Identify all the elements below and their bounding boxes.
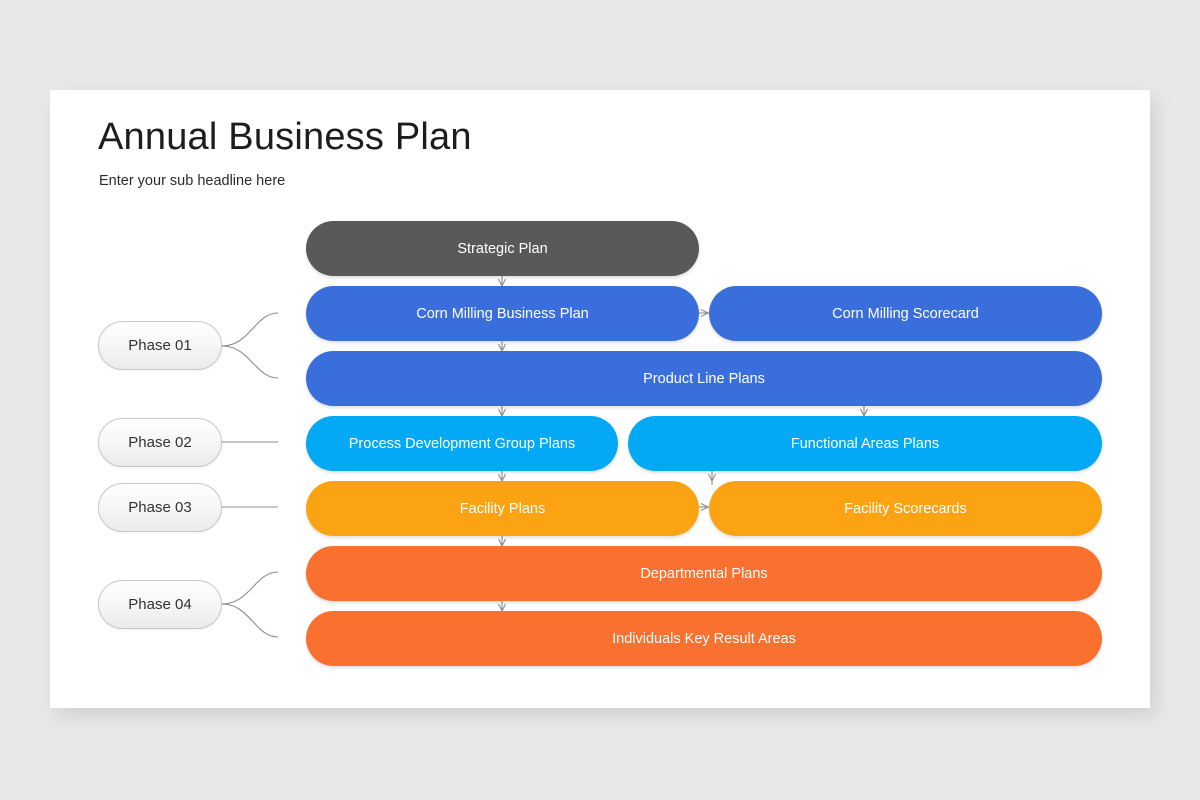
phase-label: Phase 02 — [128, 434, 191, 451]
arrow-head-process-to-facility — [499, 474, 506, 481]
node-facility-scorecards[interactable]: Facility Scorecards — [709, 481, 1102, 536]
node-label: Facility Scorecards — [844, 501, 966, 517]
node-label: Corn Milling Business Plan — [416, 306, 588, 322]
node-individuals-key-result-areas[interactable]: Individuals Key Result Areas — [306, 611, 1102, 666]
phase-pill-01[interactable]: Phase 01 — [98, 321, 222, 370]
phase-pill-02[interactable]: Phase 02 — [98, 418, 222, 467]
node-label: Individuals Key Result Areas — [612, 631, 796, 647]
node-corn-milling-scorecard[interactable]: Corn Milling Scorecard — [709, 286, 1102, 341]
node-label: Facility Plans — [460, 501, 545, 517]
node-corn-milling-business-plan[interactable]: Corn Milling Business Plan — [306, 286, 699, 341]
phase-label: Phase 04 — [128, 596, 191, 613]
node-product-line-plans[interactable]: Product Line Plans — [306, 351, 1102, 406]
arrow-head-functional-to-facility-scorecards — [709, 474, 716, 481]
arrow-head-facility-plans-to-scorecards — [701, 504, 708, 511]
arrow-head-strategic-to-corn — [499, 279, 506, 286]
phase01-connector-upper — [222, 313, 278, 346]
node-departmental-plans[interactable]: Departmental Plans — [306, 546, 1102, 601]
phase-label: Phase 01 — [128, 337, 191, 354]
arrow-head-facility-to-departmental — [499, 539, 506, 546]
phase04-connector-lower — [222, 604, 278, 637]
slide-card: Annual Business Plan Enter your sub head… — [50, 90, 1150, 708]
node-label: Corn Milling Scorecard — [832, 306, 979, 322]
node-strategic-plan[interactable]: Strategic Plan — [306, 221, 699, 276]
arrow-head-corn-to-product — [499, 344, 506, 351]
node-label: Process Development Group Plans — [349, 436, 575, 452]
node-facility-plans[interactable]: Facility Plans — [306, 481, 699, 536]
node-functional-areas-plans[interactable]: Functional Areas Plans — [628, 416, 1102, 471]
phase04-connector-upper — [222, 572, 278, 604]
node-label: Strategic Plan — [457, 241, 547, 257]
arrow-head-corn-plan-to-scorecard — [701, 310, 708, 317]
arrow-head-product-to-process — [499, 409, 506, 416]
page-canvas: Annual Business Plan Enter your sub head… — [0, 0, 1200, 800]
annual-business-plan-diagram: Phase 01 Phase 02 Phase 03 Phase 04 Stra… — [50, 90, 1150, 708]
node-process-development-group-plans[interactable]: Process Development Group Plans — [306, 416, 618, 471]
node-label: Product Line Plans — [643, 371, 765, 387]
phase01-connector-lower — [222, 346, 278, 378]
arrow-head-departmental-to-individuals — [499, 604, 506, 611]
arrow-head-product-to-functional — [861, 409, 868, 416]
phase-pill-04[interactable]: Phase 04 — [98, 580, 222, 629]
phase-label: Phase 03 — [128, 499, 191, 516]
node-label: Functional Areas Plans — [791, 436, 939, 452]
node-label: Departmental Plans — [640, 566, 767, 582]
phase-pill-03[interactable]: Phase 03 — [98, 483, 222, 532]
